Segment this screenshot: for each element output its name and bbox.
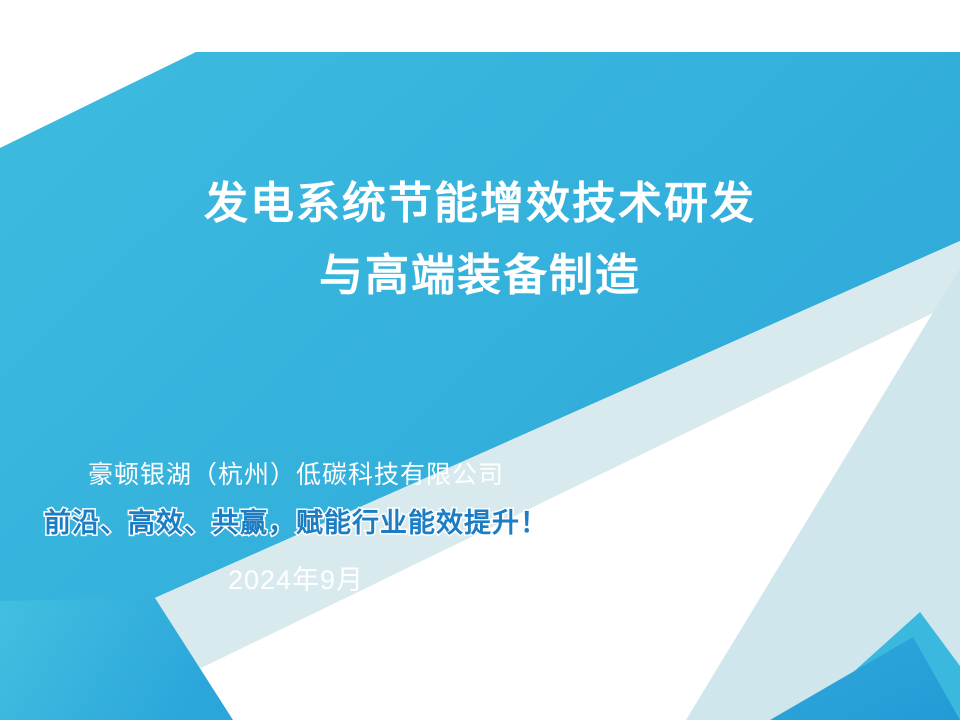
title-line-2: 与高端装备制造 bbox=[0, 240, 960, 312]
company-name: 豪顿银湖（杭州）低碳科技有限公司 bbox=[0, 458, 592, 494]
company-tagline: 前沿、高效、共赢，赋能行业能效提升！ bbox=[0, 506, 592, 540]
slide-subtitle: 豪顿银湖（杭州）低碳科技有限公司 前沿、高效、共赢，赋能行业能效提升！ bbox=[0, 458, 592, 540]
title-slide: 发电系统节能增效技术研发 与高端装备制造 豪顿银湖（杭州）低碳科技有限公司 前沿… bbox=[0, 0, 960, 720]
slide-text-layer: 发电系统节能增效技术研发 与高端装备制造 豪顿银湖（杭州）低碳科技有限公司 前沿… bbox=[0, 0, 960, 720]
slide-title: 发电系统节能增效技术研发 与高端装备制造 bbox=[0, 168, 960, 312]
title-line-1: 发电系统节能增效技术研发 bbox=[0, 168, 960, 240]
slide-date: 2024年9月 bbox=[0, 562, 592, 598]
